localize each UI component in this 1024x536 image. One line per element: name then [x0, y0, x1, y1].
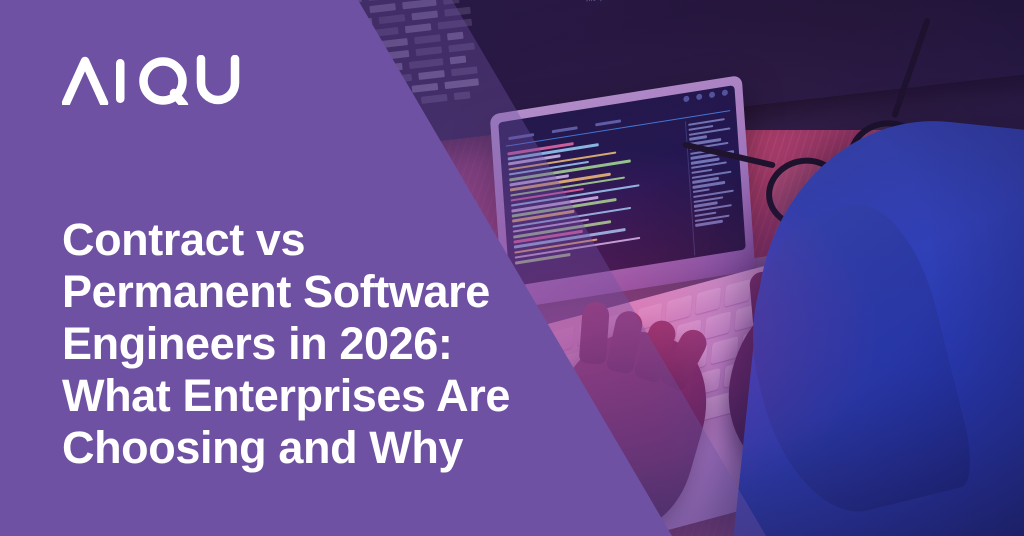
aiqu-logo-icon	[62, 55, 247, 105]
headline-line-1: Contract vs	[62, 214, 512, 266]
text-content-layer: Contract vs Permanent Software Engineers…	[0, 0, 1024, 536]
page-title: Contract vs Permanent Software Engineers…	[62, 214, 512, 474]
blog-hero-banner: Output Show output from: Debug 'Batch Ca…	[0, 0, 1024, 536]
headline-line-3: Engineers in 2026:	[62, 318, 512, 370]
headline-line-2: Permanent Software	[62, 266, 512, 318]
headline-line-4: What Enterprises Are	[62, 370, 512, 422]
aiqu-logo[interactable]	[62, 55, 247, 105]
headline-line-5: Choosing and Why	[62, 422, 512, 474]
